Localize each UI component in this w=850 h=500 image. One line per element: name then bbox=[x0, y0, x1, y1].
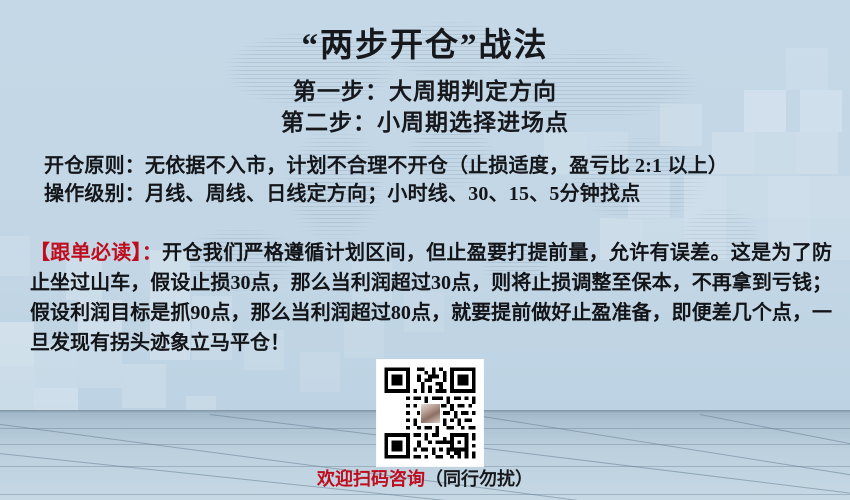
notice-colon: ： bbox=[142, 242, 162, 264]
qr-caption-invite: 欢迎扫码咨询 bbox=[317, 469, 425, 489]
notice-tag: 【跟单必读】 bbox=[30, 242, 142, 264]
step-item-1: 第一步：大周期判定方向 bbox=[0, 76, 850, 107]
principle-opening-rule: 开仓原则：无依据不入市，计划不合理不开仓（止损适度，盈亏比 2:1 以上） bbox=[44, 152, 824, 180]
poster-canvas: “两步开仓”战法 第一步：大周期判定方向 第二步：小周期选择进场点 开仓原则：无… bbox=[0, 0, 850, 500]
poster-content: “两步开仓”战法 第一步：大周期判定方向 第二步：小周期选择进场点 开仓原则：无… bbox=[0, 0, 850, 500]
qr-caption: 欢迎扫码咨询（同行勿扰） bbox=[0, 467, 850, 491]
steps-list: 第一步：大周期判定方向 第二步：小周期选择进场点 bbox=[0, 76, 850, 138]
page-title: “两步开仓”战法 bbox=[0, 18, 850, 66]
qr-caption-note: （同行勿扰） bbox=[425, 469, 533, 489]
principles-list: 开仓原则：无依据不入市，计划不合理不开仓（止损适度，盈亏比 2:1 以上） 操作… bbox=[44, 152, 824, 208]
qr-code[interactable] bbox=[377, 360, 483, 466]
qr-center-logo-icon bbox=[420, 403, 441, 424]
notice-paragraph: 【跟单必读】：开仓我们严格遵循计划区间，但止盈要打提前量，允许有误差。这是为了防… bbox=[30, 238, 832, 358]
step-item-2: 第二步：小周期选择进场点 bbox=[0, 107, 850, 138]
principle-timeframe-level: 操作级别：月线、周线、日线定方向；小时线、30、15、5分钟找点 bbox=[44, 180, 824, 208]
